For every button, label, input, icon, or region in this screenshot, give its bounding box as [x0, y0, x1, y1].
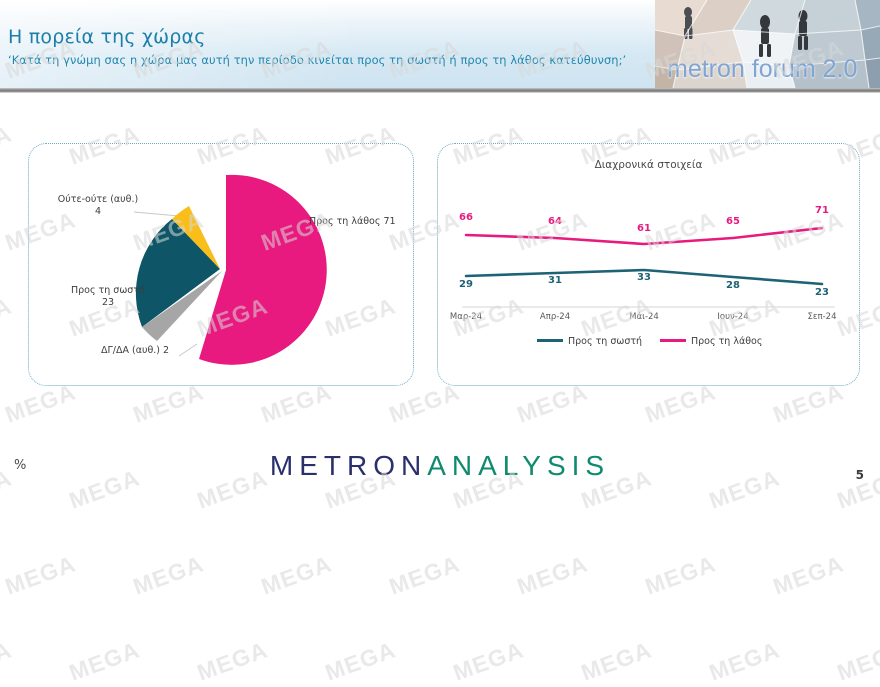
- pie-label-neither-text: Ούτε-ούτε (αυθ.): [58, 194, 138, 205]
- legend-swatch-wrong: [660, 339, 686, 342]
- watermark-text: MEGA: [130, 550, 208, 600]
- legend-item-right[interactable]: Προς τη σωστή: [537, 336, 642, 347]
- legend-item-wrong[interactable]: Προς τη λάθος: [660, 336, 762, 347]
- watermark-text: MEGA: [0, 636, 15, 686]
- pie-label-dk: ΔΓ/ΔΑ (αυθ.) 2: [101, 345, 251, 357]
- data-label-right-2: 33: [637, 272, 651, 283]
- legend-swatch-right: [537, 339, 563, 342]
- data-label-wrong-2: 61: [637, 223, 651, 234]
- header-divider: [0, 88, 880, 93]
- pie-label-right-text: Προς τη σωστή: [71, 285, 145, 296]
- watermark-text: MEGA: [770, 550, 848, 600]
- brand-metron: METRON: [270, 450, 427, 481]
- watermark-text: MEGA: [0, 292, 15, 342]
- x-tick-label-3: Ιουν-24: [705, 312, 761, 322]
- data-label-wrong-1: 64: [548, 216, 562, 227]
- line-chart-svg: [438, 144, 859, 385]
- watermark-text: MEGA: [258, 550, 336, 600]
- brand-analysis: ANALYSIS: [427, 450, 610, 481]
- pie-label-neither: Ούτε-ούτε (αυθ.) 4: [35, 194, 161, 218]
- pie-label-right-value: 23: [102, 297, 114, 308]
- page-subtitle: ‘Κατά τη γνώμη σας η χώρα μας αυτή την π…: [8, 53, 626, 67]
- x-tick-label-4: Σεπ-24: [794, 312, 850, 322]
- data-label-right-4: 23: [815, 287, 829, 298]
- x-tick-label-0: Μαρ-24: [438, 312, 494, 322]
- page-number: 5: [856, 468, 864, 482]
- data-label-wrong-3: 65: [726, 216, 740, 227]
- watermark-text: MEGA: [834, 636, 880, 686]
- x-tick-label-1: Απρ-24: [527, 312, 583, 322]
- watermark-text: MEGA: [386, 550, 464, 600]
- pie-label-right: Προς τη σωστή 23: [45, 285, 171, 309]
- watermark-text: MEGA: [514, 550, 592, 600]
- data-label-wrong-4: 71: [815, 205, 829, 216]
- watermark-text: MEGA: [450, 636, 528, 686]
- legend-label-right: Προς τη σωστή: [568, 336, 642, 347]
- pie-label-neither-value: 4: [95, 206, 101, 217]
- data-label-right-0: 29: [459, 279, 473, 290]
- data-label-right-1: 31: [548, 275, 562, 286]
- watermark-text: MEGA: [642, 550, 720, 600]
- watermark-text: MEGA: [194, 636, 272, 686]
- watermark-text: MEGA: [322, 636, 400, 686]
- data-label-right-3: 28: [726, 280, 740, 291]
- x-tick-label-2: Μάι-24: [616, 312, 672, 322]
- data-label-wrong-0: 66: [459, 212, 473, 223]
- watermark-text: MEGA: [706, 636, 784, 686]
- logo-wordmark: metron forum 2.0: [667, 55, 857, 84]
- watermark-text: MEGA: [0, 120, 15, 170]
- watermark-text: MEGA: [2, 550, 80, 600]
- line-chart-card: Διαχρονικά στοιχεία 66 64 61 65 71 29 31…: [437, 143, 860, 386]
- metron-analysis-brand: METRONANALYSIS: [0, 450, 880, 482]
- watermark-text: MEGA: [578, 636, 656, 686]
- pie-label-wrong: Προς τη λάθος 71: [309, 216, 439, 228]
- pie-chart-card: Ούτε-ούτε (αυθ.) 4 Προς τη σωστή 23 ΔΓ/Δ…: [28, 143, 414, 386]
- page-title: Η πορεία της χώρας: [8, 26, 206, 48]
- legend-label-wrong: Προς τη λάθος: [691, 336, 762, 347]
- metron-forum-logo: metron forum 2.0: [655, 0, 880, 88]
- watermark-text: MEGA: [66, 636, 144, 686]
